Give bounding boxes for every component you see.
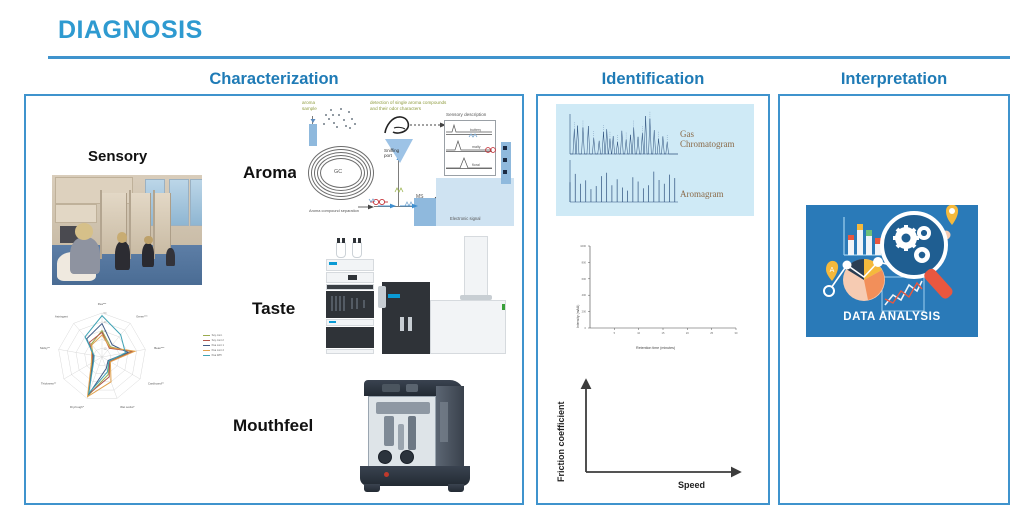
column-header-interpretation: Interpretation <box>778 70 1010 89</box>
gc-aromagram-figure: Gas Chromatogram Aromagram <box>556 104 754 216</box>
hplc-xlabel: Retention time (minutes) <box>636 346 675 350</box>
svg-text:Cardboard**: Cardboard** <box>148 382 165 386</box>
friction-coefficient-chart: Friction coefficient Speed <box>556 368 756 498</box>
column-header-characterization: Characterization <box>24 70 524 89</box>
label-aroma: Aroma <box>243 163 297 183</box>
rheometer-instrument-photo <box>324 366 516 498</box>
svg-text:0: 0 <box>585 326 587 330</box>
map-pin-icon <box>946 205 958 225</box>
radar-svg: 1020304050 Pea***Green***Bean***Cardboar… <box>36 295 226 425</box>
svg-text:Thickness**: Thickness** <box>41 382 57 386</box>
separation-arrow-icon <box>358 203 376 211</box>
sensory-link-icon <box>410 122 446 128</box>
svg-text:5: 5 <box>614 331 616 335</box>
gc-label: GC <box>334 169 342 175</box>
molecule-icon <box>394 184 408 194</box>
sniffing-port-label: Sniffing port <box>384 148 399 158</box>
label-mouthfeel: Mouthfeel <box>233 416 313 436</box>
legend-swatch <box>203 340 210 341</box>
svg-text:Dry/rough*: Dry/rough* <box>70 405 85 409</box>
radar-legend: Soy cont.Soy cont 2Pea cont 1Pea cont 2P… <box>203 333 224 358</box>
line-chart-icon <box>882 277 924 311</box>
map-pin-icon: A <box>826 261 838 281</box>
friction-xlabel: Speed <box>678 480 705 490</box>
legend-swatch <box>203 335 210 336</box>
svg-text:200: 200 <box>582 310 587 314</box>
svg-text:15: 15 <box>662 331 665 335</box>
molecule-icon <box>482 144 498 156</box>
svg-text:30: 30 <box>735 331 738 335</box>
lcms-instrument-photo <box>312 232 514 354</box>
title-divider <box>48 56 1010 59</box>
legend-swatch <box>203 350 210 351</box>
svg-text:600: 600 <box>582 277 587 281</box>
svg-text:20: 20 <box>686 331 689 335</box>
sensory-panel-photo <box>52 175 202 285</box>
hplc-chromatogram-figure: 0200400600800100051015202530 Intensity (… <box>560 232 752 354</box>
sensory-description-label: Sensory description <box>446 112 486 117</box>
svg-text:800: 800 <box>582 260 587 264</box>
svg-text:Astringent: Astringent <box>55 314 68 318</box>
vial-rack-icon <box>330 294 370 314</box>
gc-aromagram-svg <box>556 104 754 216</box>
legend-swatch <box>203 355 210 356</box>
hplc-ylabel: Intensity (mAU) <box>576 305 580 328</box>
svg-text:Bean***: Bean*** <box>154 346 165 350</box>
nose-icon <box>382 114 412 136</box>
flow-arrow-icon <box>378 202 398 210</box>
aroma-detection-label: detection of single aroma compounds and … <box>370 100 446 112</box>
svg-text:Green***: Green*** <box>136 314 148 318</box>
molecule-icon <box>468 130 482 140</box>
aroma-particles-icon <box>320 106 356 132</box>
data-analysis-title: DATA ANALYSIS <box>806 311 978 323</box>
aroma-gco-diagram: aroma sample detection of single aroma c… <box>296 98 514 226</box>
svg-text:1000: 1000 <box>580 244 586 248</box>
injection-arrow-head <box>309 114 317 124</box>
aroma-sample-label: aroma sample <box>302 100 317 112</box>
legend-label: Pea WPI <box>212 353 222 358</box>
gas-chromatogram-label: Gas Chromatogram <box>680 130 735 150</box>
svg-text:A: A <box>830 267 835 274</box>
legend-swatch <box>203 345 210 346</box>
label-taste: Taste <box>252 299 295 319</box>
aromagram-label: Aromagram <box>680 190 723 200</box>
flow-arrow-icon <box>400 202 420 210</box>
page-title: DIAGNOSIS <box>58 16 203 45</box>
hplc-svg: 0200400600800100051015202530 <box>560 232 752 354</box>
slide-root: DIAGNOSIS Characterization Identificatio… <box>0 0 1024 515</box>
svg-text:10: 10 <box>637 331 640 335</box>
svg-text:25: 25 <box>710 331 713 335</box>
injector-icon <box>309 124 317 146</box>
bar-chart-icon <box>844 217 882 255</box>
separation-label: Aroma compound separation <box>309 208 359 213</box>
svg-text:Sticky**: Sticky** <box>40 346 51 350</box>
label-sensory: Sensory <box>88 148 147 165</box>
svg-text:Wet socks*: Wet socks* <box>120 405 135 409</box>
friction-ylabel: Friction coefficient <box>556 401 566 482</box>
svg-text:400: 400 <box>582 293 587 297</box>
column-header-identification: Identification <box>536 70 770 89</box>
friction-svg <box>556 368 756 498</box>
data-analysis-card: A DATA ANALYSIS <box>806 205 978 337</box>
sensory-radar-chart: 1020304050 Pea***Green***Bean***Cardboar… <box>36 295 226 425</box>
svg-text:Pea***: Pea*** <box>98 302 107 306</box>
electronic-signal-label: Electronic signal <box>450 216 481 221</box>
radar-legend-item: Pea WPI <box>203 353 224 358</box>
